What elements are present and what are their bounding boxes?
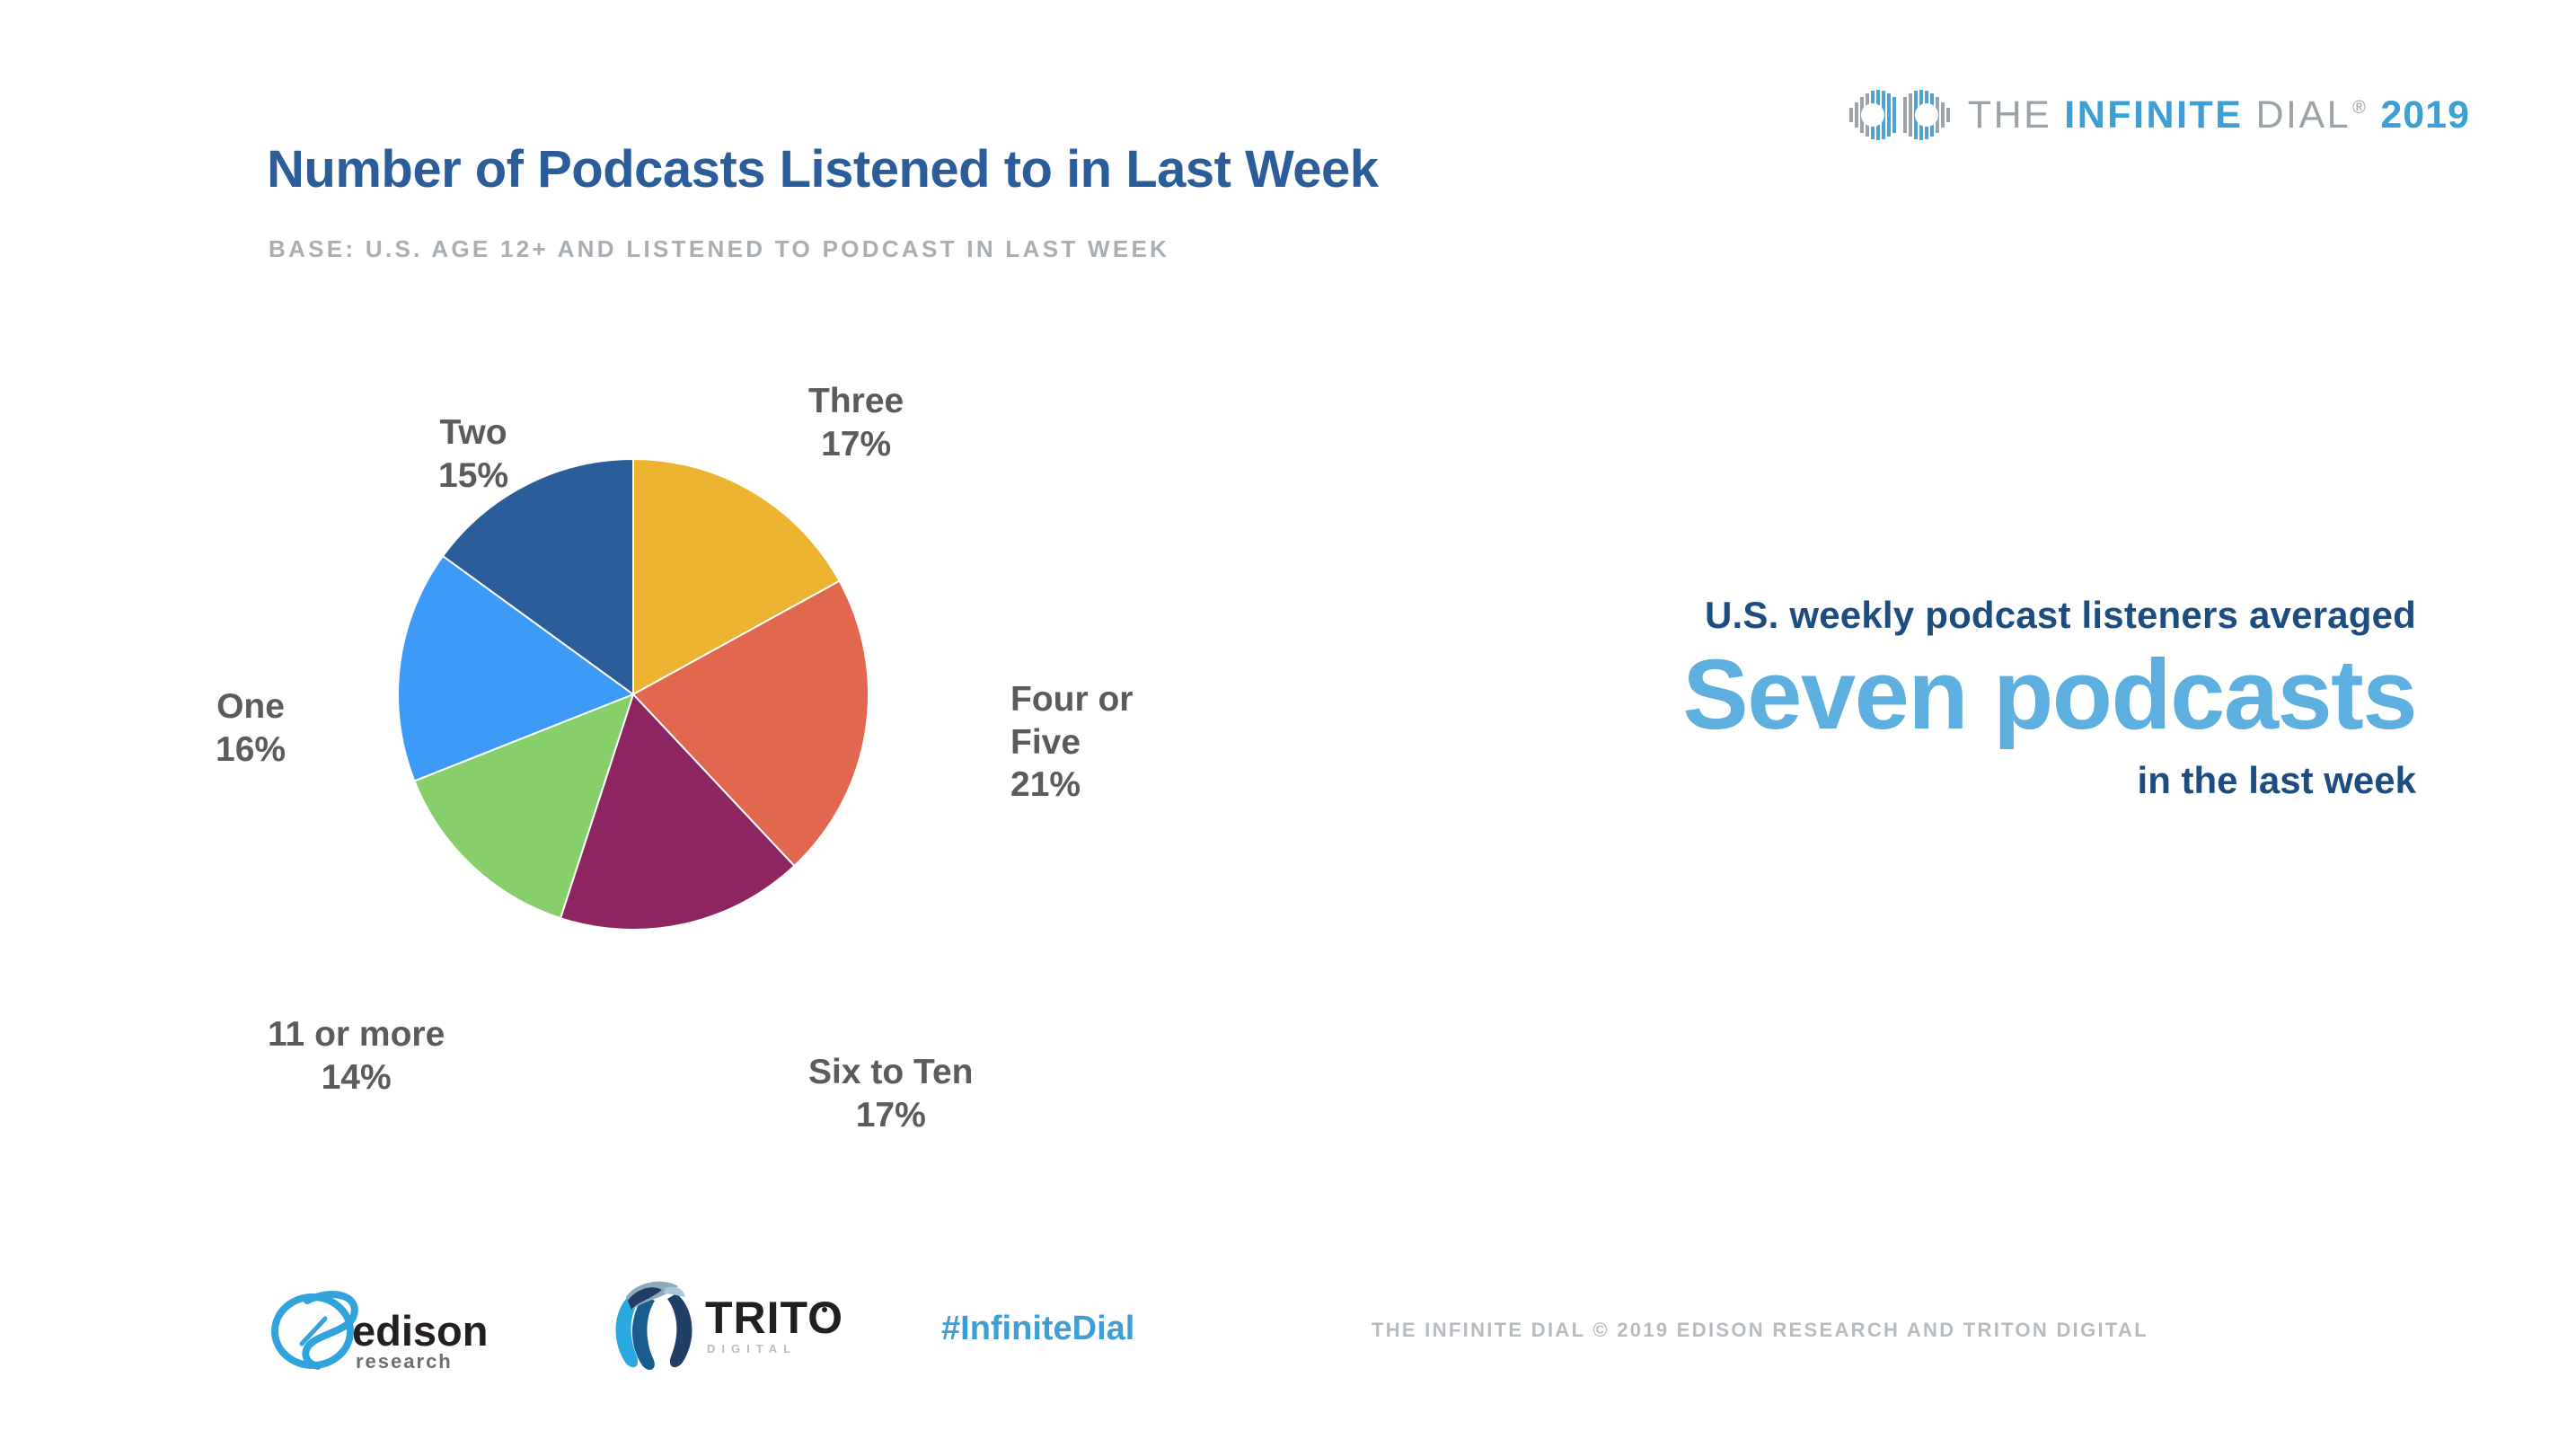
registered-mark-icon: ® bbox=[2352, 98, 2368, 118]
hashtag-infinite-dial[interactable]: #InfiniteDial bbox=[941, 1310, 1134, 1348]
pie-label-three-name: Three bbox=[808, 382, 904, 420]
pie-label-eleven-or-more: 11 or more 14% bbox=[268, 1013, 445, 1099]
pie-label-two-pct: 15% bbox=[438, 455, 508, 498]
triton-mark-icon bbox=[616, 1282, 693, 1370]
brand-word-the: THE bbox=[1968, 93, 2052, 137]
brand-word-dial: DIAL® bbox=[2255, 93, 2368, 137]
pie-label-two: Two 15% bbox=[438, 411, 508, 497]
pie-label-one: One 16% bbox=[216, 685, 286, 771]
callout-trailing-text: in the last week bbox=[1284, 758, 2416, 803]
slide-canvas: THE INFINITE DIAL® 2019 Number of Podcas… bbox=[0, 0, 2576, 1439]
infinite-dial-logo-icon bbox=[1848, 86, 1952, 144]
footer: edison research TRITON DIGITAL #Infinite… bbox=[0, 1258, 2576, 1401]
pie-label-six-to-ten-pct: 17% bbox=[808, 1094, 973, 1137]
pie-label-eleven-or-more-pct: 14% bbox=[268, 1056, 445, 1099]
callout-lead-text: U.S. weekly podcast listeners averaged bbox=[1284, 593, 2416, 638]
pie-chart: Three 17% Two 15% One 16% Four or Five 2… bbox=[341, 355, 1419, 1190]
brand-word-infinite: INFINITE bbox=[2064, 93, 2243, 137]
page-base-note: BASE: U.S. AGE 12+ AND LISTENED TO PODCA… bbox=[269, 235, 1169, 263]
brand-year: 2019 bbox=[2380, 93, 2470, 137]
brand-wordmark: THE INFINITE DIAL® 2019 bbox=[1968, 93, 2470, 137]
edison-swirl-icon bbox=[275, 1294, 355, 1366]
pie-label-one-pct: 16% bbox=[216, 728, 286, 772]
copyright-notice: THE INFINITE DIAL © 2019 EDISON RESEARCH… bbox=[1372, 1319, 2148, 1342]
triton-subwordmark: DIGITAL bbox=[707, 1342, 797, 1355]
triton-digital-logo: TRITON DIGITAL bbox=[597, 1274, 844, 1377]
callout-block: U.S. weekly podcast listeners averaged S… bbox=[1284, 593, 2416, 803]
triton-trademark-icon bbox=[822, 1307, 827, 1312]
pie-label-four-or-five-line1: Four or bbox=[1010, 680, 1133, 719]
brand-word-dial-text: DIAL bbox=[2255, 93, 2351, 137]
pie-label-eleven-or-more-name: 11 or more bbox=[268, 1015, 445, 1054]
pie-label-six-to-ten-name: Six to Ten bbox=[808, 1053, 973, 1091]
edison-research-logo: edison research bbox=[266, 1276, 490, 1379]
edison-wordmark: edison bbox=[352, 1307, 488, 1355]
pie-label-three-pct: 17% bbox=[808, 423, 904, 466]
pie-label-one-name: One bbox=[216, 687, 285, 726]
pie-label-four-or-five: Four or Five 21% bbox=[1010, 678, 1133, 807]
pie-label-three: Three 17% bbox=[808, 380, 904, 465]
triton-wordmark: TRITON bbox=[705, 1293, 844, 1343]
pie-label-four-or-five-pct: 21% bbox=[1010, 764, 1133, 807]
page-title: Number of Podcasts Listened to in Last W… bbox=[267, 139, 1379, 199]
infinite-dial-brand-lockup: THE INFINITE DIAL® 2019 bbox=[1848, 83, 2470, 147]
callout-highlight-text: Seven podcasts bbox=[1284, 640, 2416, 750]
pie-label-six-to-ten: Six to Ten 17% bbox=[808, 1051, 973, 1136]
pie-label-four-or-five-line2: Five bbox=[1010, 721, 1133, 764]
edison-subwordmark: research bbox=[356, 1350, 453, 1373]
pie-label-two-name: Two bbox=[439, 413, 507, 452]
